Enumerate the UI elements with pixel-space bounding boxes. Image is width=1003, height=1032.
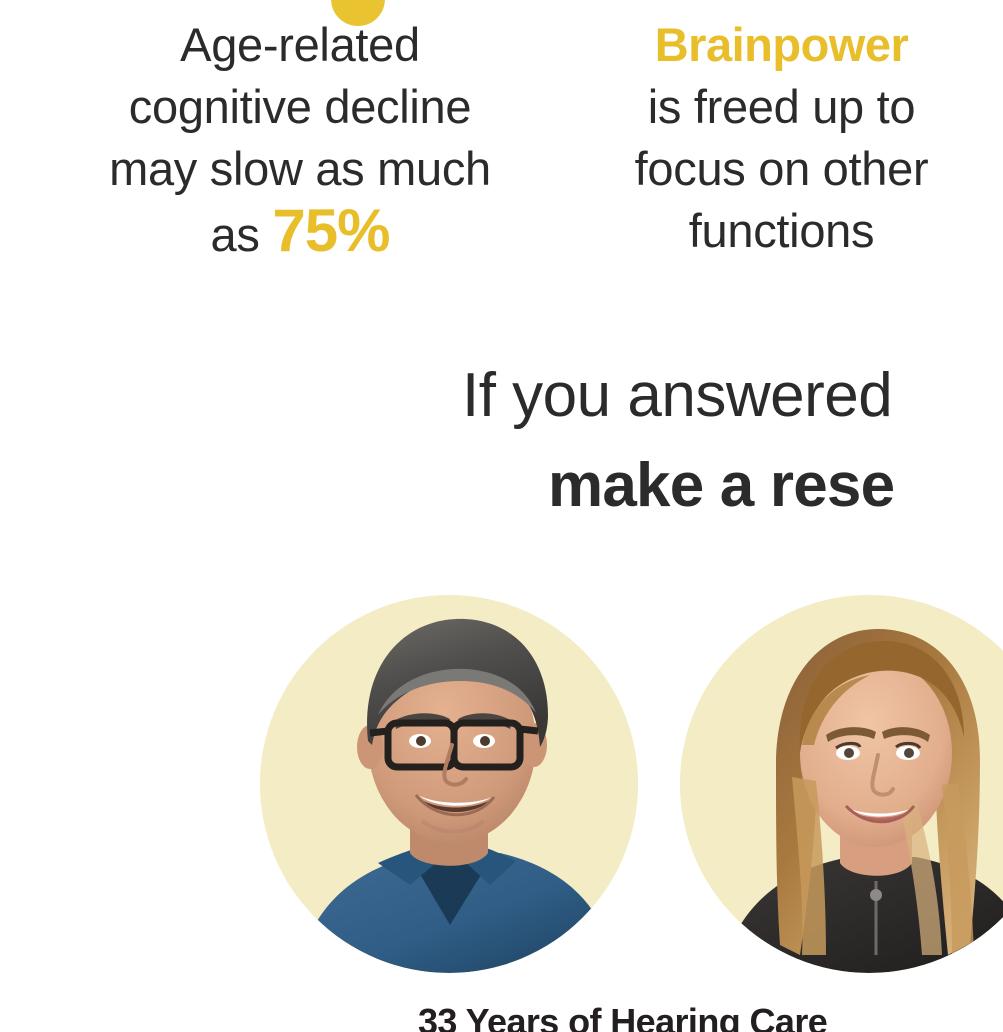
staff-portrait-1 xyxy=(260,595,638,973)
benefit-heading-brainpower: Brainpower xyxy=(610,14,953,76)
benefit-accent-75: 75% xyxy=(272,197,389,264)
cta-line-1: If you answered xyxy=(462,358,1003,434)
benefit-body-brainpower: is freed up to focus on other functions xyxy=(610,76,953,262)
bottom-headline: 33 Years of Hearing Care xyxy=(418,1001,827,1032)
cta-line-2: make a rese xyxy=(462,448,1003,524)
portrait-1-image xyxy=(260,595,638,973)
benefit-column-cognitive: Age-related cognitive decline may slow a… xyxy=(55,14,545,266)
staff-portrait-2 xyxy=(680,595,1003,973)
portrait-2-image xyxy=(680,595,1003,973)
benefit-body-cognitive: Age-related cognitive decline may slow a… xyxy=(55,14,545,266)
benefit-column-brainpower: Brainpower is freed up to focus on other… xyxy=(610,14,953,262)
infographic-page: Age-related cognitive decline may slow a… xyxy=(0,0,1003,1032)
call-to-action: If you answered make a rese xyxy=(462,358,1003,524)
